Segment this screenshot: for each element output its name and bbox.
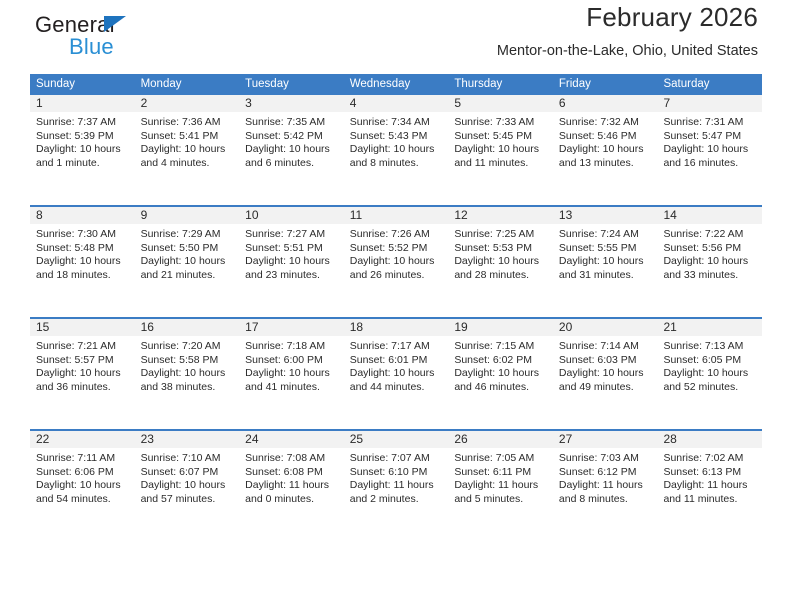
calendar-week-row: 15 Sunrise: 7:21 AM Sunset: 5:57 PM Dayl… — [30, 317, 762, 419]
location-subtitle: Mentor-on-the-Lake, Ohio, United States — [497, 40, 758, 62]
daylight-text-line1: Daylight: 10 hours — [559, 255, 652, 269]
sunrise-text: Sunrise: 7:15 AM — [454, 340, 547, 354]
sunrise-text: Sunrise: 7:32 AM — [559, 116, 652, 130]
sunrise-text: Sunrise: 7:37 AM — [36, 116, 129, 130]
day-number: 16 — [135, 319, 240, 336]
day-details: Sunrise: 7:33 AM Sunset: 5:45 PM Dayligh… — [448, 112, 553, 170]
daylight-text-line1: Daylight: 10 hours — [245, 255, 338, 269]
sunset-text: Sunset: 5:53 PM — [454, 242, 547, 256]
day-details: Sunrise: 7:25 AM Sunset: 5:53 PM Dayligh… — [448, 224, 553, 282]
daylight-text-line2: and 52 minutes. — [663, 381, 756, 395]
sunrise-text: Sunrise: 7:34 AM — [350, 116, 443, 130]
daylight-text-line1: Daylight: 10 hours — [36, 255, 129, 269]
day-details: Sunrise: 7:24 AM Sunset: 5:55 PM Dayligh… — [553, 224, 658, 282]
daylight-text-line1: Daylight: 10 hours — [36, 479, 129, 493]
day-cell[interactable]: 7 Sunrise: 7:31 AM Sunset: 5:47 PM Dayli… — [657, 95, 762, 195]
day-details: Sunrise: 7:37 AM Sunset: 5:39 PM Dayligh… — [30, 112, 135, 170]
daylight-text-line2: and 33 minutes. — [663, 269, 756, 283]
sunset-text: Sunset: 6:10 PM — [350, 466, 443, 480]
sunrise-text: Sunrise: 7:29 AM — [141, 228, 234, 242]
sunset-text: Sunset: 6:05 PM — [663, 354, 756, 368]
weekday-header-wednesday: Wednesday — [344, 74, 449, 95]
daylight-text-line1: Daylight: 10 hours — [559, 367, 652, 381]
daylight-text-line1: Daylight: 10 hours — [663, 367, 756, 381]
day-cell[interactable]: 28 Sunrise: 7:02 AM Sunset: 6:13 PM Dayl… — [657, 431, 762, 531]
day-cell[interactable]: 26 Sunrise: 7:05 AM Sunset: 6:11 PM Dayl… — [448, 431, 553, 531]
sunrise-text: Sunrise: 7:10 AM — [141, 452, 234, 466]
daylight-text-line1: Daylight: 10 hours — [141, 255, 234, 269]
day-number: 28 — [657, 431, 762, 448]
weekday-header-monday: Monday — [135, 74, 240, 95]
sunset-text: Sunset: 5:51 PM — [245, 242, 338, 256]
sunset-text: Sunset: 5:55 PM — [559, 242, 652, 256]
day-details: Sunrise: 7:14 AM Sunset: 6:03 PM Dayligh… — [553, 336, 658, 394]
day-number: 14 — [657, 207, 762, 224]
day-number: 12 — [448, 207, 553, 224]
day-number: 18 — [344, 319, 449, 336]
day-number: 3 — [239, 95, 344, 112]
daylight-text-line2: and 46 minutes. — [454, 381, 547, 395]
daylight-text-line2: and 2 minutes. — [350, 493, 443, 507]
day-number: 4 — [344, 95, 449, 112]
day-cell[interactable]: 17 Sunrise: 7:18 AM Sunset: 6:00 PM Dayl… — [239, 319, 344, 419]
sunset-text: Sunset: 6:12 PM — [559, 466, 652, 480]
day-number: 23 — [135, 431, 240, 448]
sunset-text: Sunset: 5:58 PM — [141, 354, 234, 368]
day-details: Sunrise: 7:26 AM Sunset: 5:52 PM Dayligh… — [344, 224, 449, 282]
day-details: Sunrise: 7:17 AM Sunset: 6:01 PM Dayligh… — [344, 336, 449, 394]
daylight-text-line1: Daylight: 10 hours — [141, 143, 234, 157]
daylight-text-line2: and 18 minutes. — [36, 269, 129, 283]
day-cell[interactable]: 22 Sunrise: 7:11 AM Sunset: 6:06 PM Dayl… — [30, 431, 135, 531]
day-details: Sunrise: 7:34 AM Sunset: 5:43 PM Dayligh… — [344, 112, 449, 170]
day-cell[interactable]: 6 Sunrise: 7:32 AM Sunset: 5:46 PM Dayli… — [553, 95, 658, 195]
day-details: Sunrise: 7:29 AM Sunset: 5:50 PM Dayligh… — [135, 224, 240, 282]
sunset-text: Sunset: 5:43 PM — [350, 130, 443, 144]
sunrise-text: Sunrise: 7:02 AM — [663, 452, 756, 466]
page-title: February 2026 — [497, 0, 758, 34]
day-cell[interactable]: 14 Sunrise: 7:22 AM Sunset: 5:56 PM Dayl… — [657, 207, 762, 307]
daylight-text-line1: Daylight: 11 hours — [245, 479, 338, 493]
calendar-week-row: 1 Sunrise: 7:37 AM Sunset: 5:39 PM Dayli… — [30, 95, 762, 195]
weekday-header-friday: Friday — [553, 74, 658, 95]
daylight-text-line1: Daylight: 11 hours — [559, 479, 652, 493]
daylight-text-line2: and 0 minutes. — [245, 493, 338, 507]
day-cell[interactable]: 8 Sunrise: 7:30 AM Sunset: 5:48 PM Dayli… — [30, 207, 135, 307]
calendar-page: General Blue February 2026 Mentor-on-the… — [0, 0, 792, 612]
day-details: Sunrise: 7:11 AM Sunset: 6:06 PM Dayligh… — [30, 448, 135, 506]
daylight-text-line2: and 28 minutes. — [454, 269, 547, 283]
daylight-text-line1: Daylight: 10 hours — [663, 143, 756, 157]
daylight-text-line1: Daylight: 10 hours — [36, 367, 129, 381]
day-cell[interactable]: 11 Sunrise: 7:26 AM Sunset: 5:52 PM Dayl… — [344, 207, 449, 307]
daylight-text-line2: and 41 minutes. — [245, 381, 338, 395]
day-cell[interactable]: 20 Sunrise: 7:14 AM Sunset: 6:03 PM Dayl… — [553, 319, 658, 419]
sunrise-text: Sunrise: 7:03 AM — [559, 452, 652, 466]
day-number: 19 — [448, 319, 553, 336]
day-number: 2 — [135, 95, 240, 112]
daylight-text-line1: Daylight: 10 hours — [141, 367, 234, 381]
daylight-text-line2: and 49 minutes. — [559, 381, 652, 395]
day-details: Sunrise: 7:08 AM Sunset: 6:08 PM Dayligh… — [239, 448, 344, 506]
day-details: Sunrise: 7:32 AM Sunset: 5:46 PM Dayligh… — [553, 112, 658, 170]
sunrise-text: Sunrise: 7:33 AM — [454, 116, 547, 130]
day-cell[interactable]: 24 Sunrise: 7:08 AM Sunset: 6:08 PM Dayl… — [239, 431, 344, 531]
daylight-text-line1: Daylight: 10 hours — [663, 255, 756, 269]
daylight-text-line1: Daylight: 10 hours — [454, 143, 547, 157]
sunrise-text: Sunrise: 7:17 AM — [350, 340, 443, 354]
sunset-text: Sunset: 5:39 PM — [36, 130, 129, 144]
day-number: 20 — [553, 319, 658, 336]
day-details: Sunrise: 7:07 AM Sunset: 6:10 PM Dayligh… — [344, 448, 449, 506]
weekday-header-thursday: Thursday — [448, 74, 553, 95]
day-details: Sunrise: 7:10 AM Sunset: 6:07 PM Dayligh… — [135, 448, 240, 506]
daylight-text-line1: Daylight: 11 hours — [350, 479, 443, 493]
sunset-text: Sunset: 6:06 PM — [36, 466, 129, 480]
general-blue-logo[interactable]: General Blue — [35, 14, 115, 58]
calendar-grid: Sunday Monday Tuesday Wednesday Thursday… — [30, 74, 762, 531]
daylight-text-line2: and 11 minutes. — [663, 493, 756, 507]
sunrise-text: Sunrise: 7:30 AM — [36, 228, 129, 242]
daylight-text-line1: Daylight: 10 hours — [36, 143, 129, 157]
daylight-text-line2: and 38 minutes. — [141, 381, 234, 395]
sunrise-text: Sunrise: 7:07 AM — [350, 452, 443, 466]
day-cell[interactable]: 12 Sunrise: 7:25 AM Sunset: 5:53 PM Dayl… — [448, 207, 553, 307]
sunrise-text: Sunrise: 7:25 AM — [454, 228, 547, 242]
daylight-text-line2: and 16 minutes. — [663, 157, 756, 171]
day-details: Sunrise: 7:05 AM Sunset: 6:11 PM Dayligh… — [448, 448, 553, 506]
day-details: Sunrise: 7:36 AM Sunset: 5:41 PM Dayligh… — [135, 112, 240, 170]
sunrise-text: Sunrise: 7:05 AM — [454, 452, 547, 466]
day-cell[interactable]: 4 Sunrise: 7:34 AM Sunset: 5:43 PM Dayli… — [344, 95, 449, 195]
day-number: 10 — [239, 207, 344, 224]
day-number: 22 — [30, 431, 135, 448]
sunset-text: Sunset: 6:02 PM — [454, 354, 547, 368]
day-cell[interactable]: 3 Sunrise: 7:35 AM Sunset: 5:42 PM Dayli… — [239, 95, 344, 195]
daylight-text-line2: and 8 minutes. — [350, 157, 443, 171]
day-details: Sunrise: 7:13 AM Sunset: 6:05 PM Dayligh… — [657, 336, 762, 394]
daylight-text-line1: Daylight: 10 hours — [245, 143, 338, 157]
day-number: 7 — [657, 95, 762, 112]
daylight-text-line2: and 23 minutes. — [245, 269, 338, 283]
sunset-text: Sunset: 5:57 PM — [36, 354, 129, 368]
sunrise-text: Sunrise: 7:27 AM — [245, 228, 338, 242]
sunrise-text: Sunrise: 7:35 AM — [245, 116, 338, 130]
title-block: February 2026 Mentor-on-the-Lake, Ohio, … — [497, 0, 758, 62]
sunrise-text: Sunrise: 7:36 AM — [141, 116, 234, 130]
sunrise-text: Sunrise: 7:26 AM — [350, 228, 443, 242]
day-cell[interactable]: 25 Sunrise: 7:07 AM Sunset: 6:10 PM Dayl… — [344, 431, 449, 531]
daylight-text-line2: and 13 minutes. — [559, 157, 652, 171]
daylight-text-line1: Daylight: 11 hours — [663, 479, 756, 493]
sunset-text: Sunset: 5:45 PM — [454, 130, 547, 144]
sunset-text: Sunset: 5:52 PM — [350, 242, 443, 256]
sunset-text: Sunset: 6:01 PM — [350, 354, 443, 368]
sunset-text: Sunset: 5:48 PM — [36, 242, 129, 256]
day-number: 24 — [239, 431, 344, 448]
weekday-header-sunday: Sunday — [30, 74, 135, 95]
day-cell[interactable]: 10 Sunrise: 7:27 AM Sunset: 5:51 PM Dayl… — [239, 207, 344, 307]
sunrise-text: Sunrise: 7:13 AM — [663, 340, 756, 354]
sunrise-text: Sunrise: 7:20 AM — [141, 340, 234, 354]
day-details: Sunrise: 7:31 AM Sunset: 5:47 PM Dayligh… — [657, 112, 762, 170]
day-details: Sunrise: 7:35 AM Sunset: 5:42 PM Dayligh… — [239, 112, 344, 170]
sunset-text: Sunset: 6:08 PM — [245, 466, 338, 480]
day-cell[interactable]: 1 Sunrise: 7:37 AM Sunset: 5:39 PM Dayli… — [30, 95, 135, 195]
daylight-text-line1: Daylight: 10 hours — [141, 479, 234, 493]
weekday-header-tuesday: Tuesday — [239, 74, 344, 95]
day-details: Sunrise: 7:22 AM Sunset: 5:56 PM Dayligh… — [657, 224, 762, 282]
daylight-text-line1: Daylight: 11 hours — [454, 479, 547, 493]
logo-text-blue: Blue — [35, 36, 115, 58]
day-number: 11 — [344, 207, 449, 224]
day-cell[interactable]: 27 Sunrise: 7:03 AM Sunset: 6:12 PM Dayl… — [553, 431, 658, 531]
day-number: 26 — [448, 431, 553, 448]
day-cell[interactable]: 5 Sunrise: 7:33 AM Sunset: 5:45 PM Dayli… — [448, 95, 553, 195]
daylight-text-line2: and 36 minutes. — [36, 381, 129, 395]
daylight-text-line2: and 1 minute. — [36, 157, 129, 171]
sunset-text: Sunset: 6:11 PM — [454, 466, 547, 480]
day-number: 17 — [239, 319, 344, 336]
daylight-text-line2: and 54 minutes. — [36, 493, 129, 507]
daylight-text-line2: and 31 minutes. — [559, 269, 652, 283]
daylight-text-line2: and 6 minutes. — [245, 157, 338, 171]
day-cell[interactable]: 23 Sunrise: 7:10 AM Sunset: 6:07 PM Dayl… — [135, 431, 240, 531]
day-details: Sunrise: 7:30 AM Sunset: 5:48 PM Dayligh… — [30, 224, 135, 282]
daylight-text-line2: and 8 minutes. — [559, 493, 652, 507]
day-cell[interactable]: 2 Sunrise: 7:36 AM Sunset: 5:41 PM Dayli… — [135, 95, 240, 195]
daylight-text-line1: Daylight: 10 hours — [245, 367, 338, 381]
day-cell[interactable]: 13 Sunrise: 7:24 AM Sunset: 5:55 PM Dayl… — [553, 207, 658, 307]
day-number: 1 — [30, 95, 135, 112]
sunset-text: Sunset: 5:56 PM — [663, 242, 756, 256]
daylight-text-line1: Daylight: 10 hours — [350, 255, 443, 269]
day-number: 21 — [657, 319, 762, 336]
sunrise-text: Sunrise: 7:11 AM — [36, 452, 129, 466]
sunrise-text: Sunrise: 7:21 AM — [36, 340, 129, 354]
sunrise-text: Sunrise: 7:18 AM — [245, 340, 338, 354]
daylight-text-line2: and 4 minutes. — [141, 157, 234, 171]
sunset-text: Sunset: 5:46 PM — [559, 130, 652, 144]
sunrise-text: Sunrise: 7:08 AM — [245, 452, 338, 466]
day-cell[interactable]: 19 Sunrise: 7:15 AM Sunset: 6:02 PM Dayl… — [448, 319, 553, 419]
day-number: 27 — [553, 431, 658, 448]
daylight-text-line2: and 44 minutes. — [350, 381, 443, 395]
weekday-header-saturday: Saturday — [657, 74, 762, 95]
daylight-text-line1: Daylight: 10 hours — [454, 255, 547, 269]
day-number: 6 — [553, 95, 658, 112]
day-number: 5 — [448, 95, 553, 112]
day-number: 9 — [135, 207, 240, 224]
day-cell[interactable]: 18 Sunrise: 7:17 AM Sunset: 6:01 PM Dayl… — [344, 319, 449, 419]
day-cell[interactable]: 16 Sunrise: 7:20 AM Sunset: 5:58 PM Dayl… — [135, 319, 240, 419]
day-number: 13 — [553, 207, 658, 224]
day-details: Sunrise: 7:20 AM Sunset: 5:58 PM Dayligh… — [135, 336, 240, 394]
sunset-text: Sunset: 6:00 PM — [245, 354, 338, 368]
day-details: Sunrise: 7:15 AM Sunset: 6:02 PM Dayligh… — [448, 336, 553, 394]
sunset-text: Sunset: 5:50 PM — [141, 242, 234, 256]
sunset-text: Sunset: 6:03 PM — [559, 354, 652, 368]
sunset-text: Sunset: 5:41 PM — [141, 130, 234, 144]
daylight-text-line1: Daylight: 10 hours — [350, 143, 443, 157]
sunset-text: Sunset: 5:47 PM — [663, 130, 756, 144]
day-details: Sunrise: 7:03 AM Sunset: 6:12 PM Dayligh… — [553, 448, 658, 506]
logo-text-general-label: General — [35, 12, 115, 37]
sunrise-text: Sunrise: 7:14 AM — [559, 340, 652, 354]
calendar-week-row: 22 Sunrise: 7:11 AM Sunset: 6:06 PM Dayl… — [30, 429, 762, 531]
day-cell[interactable]: 9 Sunrise: 7:29 AM Sunset: 5:50 PM Dayli… — [135, 207, 240, 307]
sunrise-text: Sunrise: 7:31 AM — [663, 116, 756, 130]
daylight-text-line2: and 21 minutes. — [141, 269, 234, 283]
calendar-week-row: 8 Sunrise: 7:30 AM Sunset: 5:48 PM Dayli… — [30, 205, 762, 307]
day-details: Sunrise: 7:02 AM Sunset: 6:13 PM Dayligh… — [657, 448, 762, 506]
weekday-header-row: Sunday Monday Tuesday Wednesday Thursday… — [30, 74, 762, 95]
day-cell[interactable]: 15 Sunrise: 7:21 AM Sunset: 5:57 PM Dayl… — [30, 319, 135, 419]
daylight-text-line1: Daylight: 10 hours — [454, 367, 547, 381]
daylight-text-line2: and 5 minutes. — [454, 493, 547, 507]
triangle-icon — [104, 16, 126, 32]
day-number: 8 — [30, 207, 135, 224]
daylight-text-line2: and 11 minutes. — [454, 157, 547, 171]
day-details: Sunrise: 7:18 AM Sunset: 6:00 PM Dayligh… — [239, 336, 344, 394]
sunset-text: Sunset: 6:07 PM — [141, 466, 234, 480]
daylight-text-line2: and 26 minutes. — [350, 269, 443, 283]
logo-text-general: General — [35, 14, 115, 38]
sunset-text: Sunset: 6:13 PM — [663, 466, 756, 480]
page-header: General Blue February 2026 Mentor-on-the… — [30, 0, 762, 70]
daylight-text-line2: and 57 minutes. — [141, 493, 234, 507]
day-cell[interactable]: 21 Sunrise: 7:13 AM Sunset: 6:05 PM Dayl… — [657, 319, 762, 419]
daylight-text-line1: Daylight: 10 hours — [559, 143, 652, 157]
day-details: Sunrise: 7:27 AM Sunset: 5:51 PM Dayligh… — [239, 224, 344, 282]
sunset-text: Sunset: 5:42 PM — [245, 130, 338, 144]
daylight-text-line1: Daylight: 10 hours — [350, 367, 443, 381]
day-number: 25 — [344, 431, 449, 448]
day-details: Sunrise: 7:21 AM Sunset: 5:57 PM Dayligh… — [30, 336, 135, 394]
sunrise-text: Sunrise: 7:22 AM — [663, 228, 756, 242]
day-number: 15 — [30, 319, 135, 336]
sunrise-text: Sunrise: 7:24 AM — [559, 228, 652, 242]
